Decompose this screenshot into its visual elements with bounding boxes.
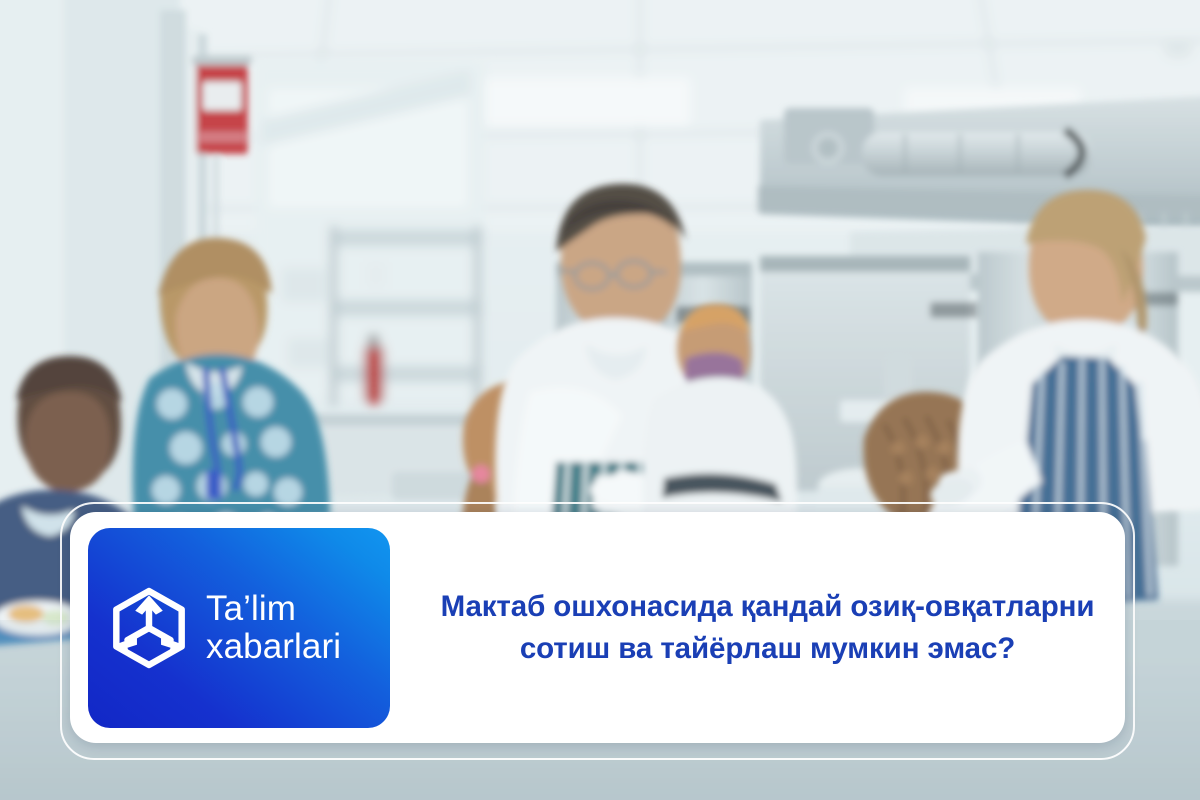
headline-line-1: Мактаб ошхонасида қандай озиқ-овқатларни xyxy=(441,586,1095,628)
brand-line-2: xabarlari xyxy=(206,628,341,666)
brand-logo-tile[interactable]: Ta’lim xabarlari xyxy=(88,528,390,728)
article-headline: Мактаб ошхонасида қандай озиқ-овқатларни… xyxy=(441,586,1095,670)
cube-hexagon-logo-icon xyxy=(106,585,192,671)
brand-line-1: Ta’lim xyxy=(206,589,296,628)
banner-card: Ta’lim xabarlari Мактаб ошхонасида қанда… xyxy=(70,512,1125,743)
headline-container: Мактаб ошхонасида қандай озиқ-овқатларни… xyxy=(410,512,1125,743)
headline-line-2: сотиш ва тайёрлаш мумкин эмас? xyxy=(441,628,1095,670)
brand-wordmark: Ta’lim xabarlari xyxy=(206,590,341,666)
